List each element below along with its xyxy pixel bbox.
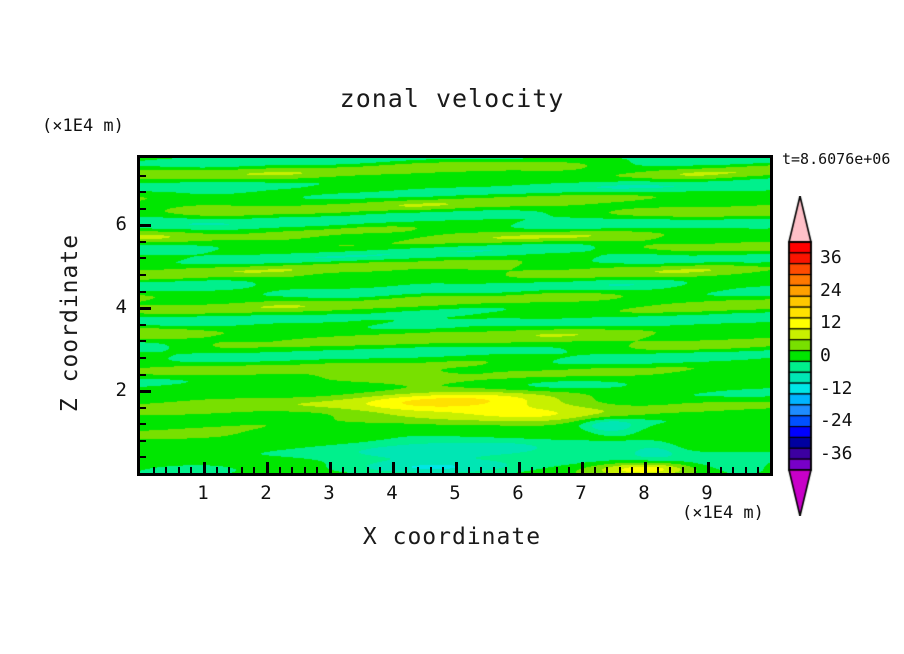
x-tick	[745, 467, 747, 473]
x-tick	[228, 467, 230, 473]
x-tick	[556, 467, 558, 473]
x-tick	[631, 467, 633, 473]
x-tick	[190, 467, 192, 473]
z-tick	[140, 224, 151, 227]
x-tick	[455, 462, 458, 473]
z-tick	[140, 291, 146, 293]
y-axis-unit-label: (×1E4 m)	[42, 116, 124, 136]
x-tick	[720, 467, 722, 473]
x-tick-label: 4	[372, 482, 412, 504]
x-tick	[354, 467, 356, 473]
x-tick	[694, 467, 696, 473]
colorbar-tick-label: 24	[820, 280, 842, 301]
x-tick	[493, 467, 495, 473]
x-tick-label: 7	[561, 482, 601, 504]
colorbar-tick-label: 0	[820, 345, 831, 366]
x-tick	[417, 467, 419, 473]
z-tick	[140, 374, 146, 376]
page-title: zonal velocity	[0, 84, 904, 113]
x-tick	[379, 467, 381, 473]
x-tick	[468, 467, 470, 473]
x-tick-label: 1	[183, 482, 223, 504]
x-tick	[669, 467, 671, 473]
x-tick-label: 2	[246, 482, 286, 504]
x-tick	[165, 467, 167, 473]
x-tick	[480, 467, 482, 473]
z-tick	[140, 456, 146, 458]
z-tick	[140, 241, 146, 243]
z-tick-label: 2	[87, 379, 127, 401]
z-tick	[140, 307, 151, 310]
x-tick	[279, 467, 281, 473]
x-tick	[757, 467, 759, 473]
x-tick	[657, 467, 659, 473]
x-tick	[732, 467, 734, 473]
x-tick	[329, 462, 332, 473]
y-axis-title: Z coordinate	[57, 193, 83, 453]
x-tick	[253, 467, 255, 473]
colorbar	[786, 196, 814, 516]
x-tick-label: 9	[687, 482, 727, 504]
time-annotation: t=8.6076e+06	[782, 150, 890, 168]
z-tick	[140, 340, 146, 342]
x-tick	[266, 462, 269, 473]
x-tick	[241, 467, 243, 473]
z-tick	[140, 208, 146, 210]
x-tick	[505, 467, 507, 473]
x-tick	[518, 462, 521, 473]
x-tick	[304, 467, 306, 473]
x-tick	[316, 467, 318, 473]
colorbar-gradient	[786, 196, 814, 516]
z-tick-label: 6	[87, 213, 127, 235]
x-tick	[153, 467, 155, 473]
x-tick	[543, 467, 545, 473]
contour-plot-area	[137, 155, 773, 476]
x-tick	[367, 467, 369, 473]
z-tick-label: 4	[87, 296, 127, 318]
colorbar-tick-label: 36	[820, 247, 842, 268]
x-tick	[581, 462, 584, 473]
x-tick-label: 3	[309, 482, 349, 504]
z-tick	[140, 423, 146, 425]
x-tick-label: 5	[435, 482, 475, 504]
x-tick-label: 8	[624, 482, 664, 504]
colorbar-tick-label: -12	[820, 378, 853, 399]
x-tick	[178, 467, 180, 473]
x-tick	[405, 467, 407, 473]
x-tick	[203, 462, 206, 473]
x-tick	[707, 462, 710, 473]
x-tick	[392, 462, 395, 473]
figure-canvas: zonal velocity (×1E4 m) (×1E4 m) Z coord…	[0, 0, 904, 654]
z-tick	[140, 191, 146, 193]
z-tick	[140, 407, 146, 409]
velocity-field-heatmap	[140, 158, 770, 473]
x-tick	[606, 467, 608, 473]
z-tick	[140, 257, 146, 259]
colorbar-tick-label: 12	[820, 312, 842, 333]
x-tick-label: 6	[498, 482, 538, 504]
x-tick	[430, 467, 432, 473]
x-tick	[216, 467, 218, 473]
z-tick	[140, 357, 146, 359]
colorbar-tick-label: -36	[820, 443, 853, 464]
z-tick	[140, 440, 146, 442]
x-axis-title: X coordinate	[0, 524, 904, 550]
z-tick	[140, 390, 151, 393]
x-tick	[291, 467, 293, 473]
z-tick	[140, 274, 146, 276]
x-tick	[442, 467, 444, 473]
x-tick	[682, 467, 684, 473]
colorbar-tick-label: -24	[820, 410, 853, 431]
z-tick	[140, 175, 146, 177]
x-tick	[594, 467, 596, 473]
x-tick	[644, 462, 647, 473]
x-tick	[568, 467, 570, 473]
z-tick	[140, 324, 146, 326]
x-axis-unit-label: (×1E4 m)	[682, 503, 764, 523]
x-tick	[531, 467, 533, 473]
x-tick	[619, 467, 621, 473]
x-tick	[342, 467, 344, 473]
